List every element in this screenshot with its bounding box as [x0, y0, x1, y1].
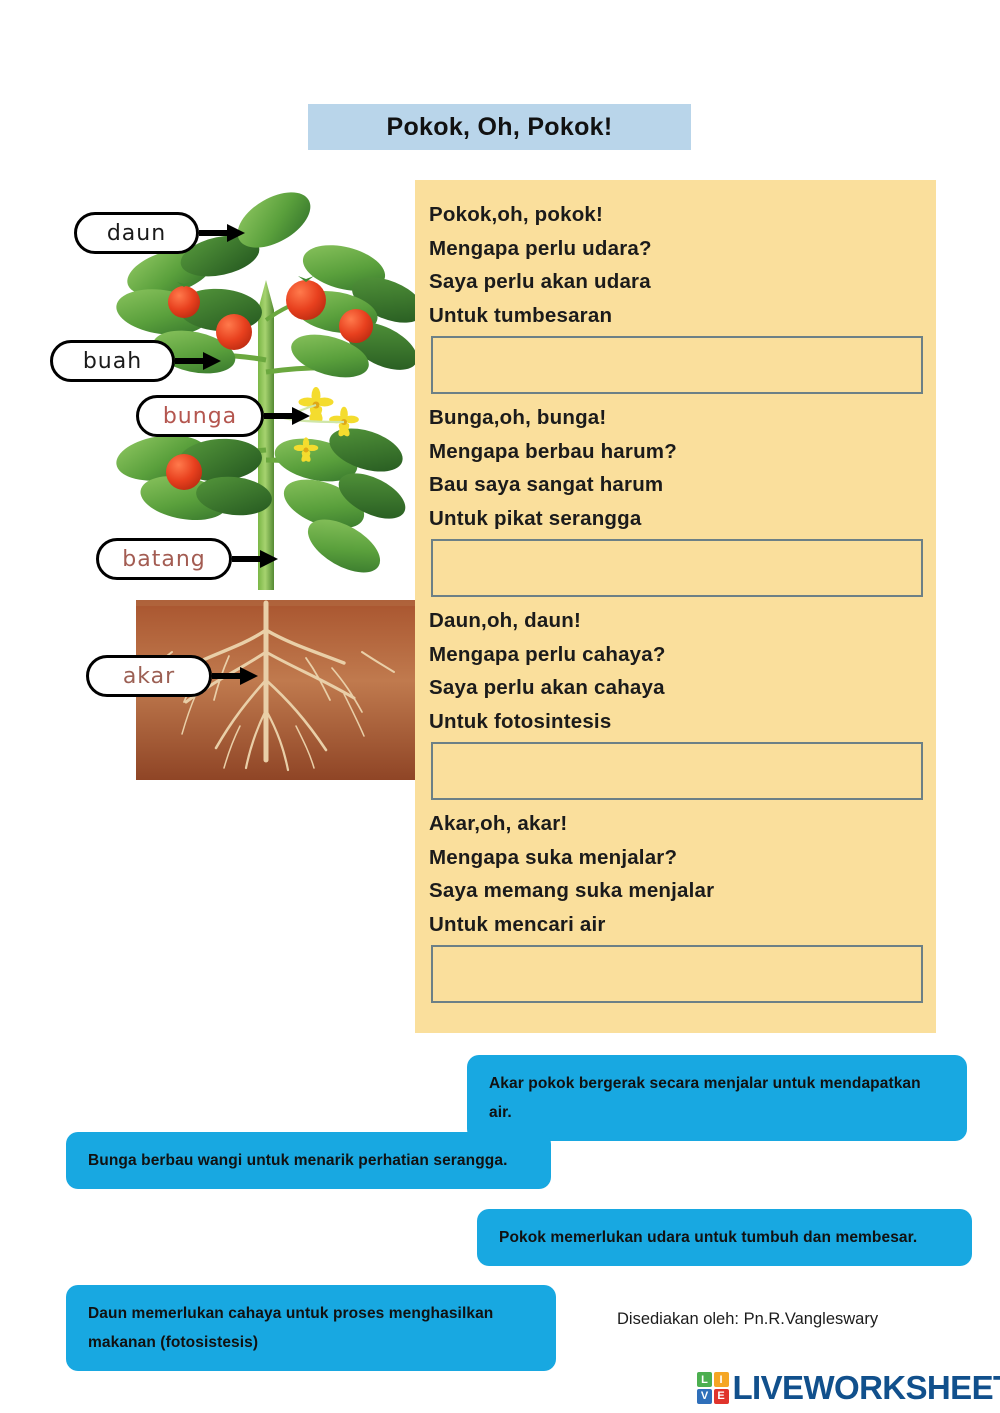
arrow-right-icon [232, 548, 278, 570]
arrow-right-icon [264, 405, 310, 427]
poem-line: Daun,oh, daun! [429, 604, 922, 638]
poem-line: Saya perlu akan udara [429, 265, 922, 299]
poem-line: Untuk fotosintesis [429, 705, 922, 739]
diagram-label-batang-text: batang [122, 547, 205, 572]
liveworksheets-logo-blocks: L I V E [697, 1372, 729, 1404]
plant-parts-diagram: daun buah bunga batang akar [44, 160, 416, 780]
answer-dropzone-akar[interactable] [431, 945, 923, 1003]
poem-line: Saya perlu akan cahaya [429, 671, 922, 705]
answer-card-daun[interactable]: Daun memerlukan cahaya untuk proses meng… [66, 1285, 556, 1371]
poem-line: Bau saya sangat harum [429, 468, 922, 502]
stanza-bunga: Bunga,oh, bunga! Mengapa berbau harum? B… [429, 401, 922, 597]
liveworksheets-wordmark: LIVEWORKSHEETS [733, 1369, 1000, 1407]
page-title: Pokok, Oh, Pokok! [387, 113, 613, 142]
diagram-label-daun-text: daun [107, 221, 166, 246]
logo-block-e: E [714, 1389, 729, 1404]
poem-line: Pokok,oh, pokok! [429, 198, 922, 232]
diagram-label-batang: batang [96, 538, 232, 580]
poem-line: Mengapa berbau harum? [429, 435, 922, 469]
page-title-banner: Pokok, Oh, Pokok! [308, 104, 691, 150]
liveworksheets-logo[interactable]: L I V E LIVEWORKSHEETS [697, 1366, 1000, 1410]
poem-line: Mengapa perlu udara? [429, 232, 922, 266]
poem-line: Akar,oh, akar! [429, 807, 922, 841]
logo-block-l: L [697, 1372, 712, 1387]
answer-dropzone-daun[interactable] [431, 742, 923, 800]
diagram-label-bunga: bunga [136, 395, 264, 437]
answer-dropzone-bunga[interactable] [431, 539, 923, 597]
answer-card-pokok[interactable]: Pokok memerlukan udara untuk tumbuh dan … [477, 1209, 972, 1266]
answer-card-akar[interactable]: Akar pokok bergerak secara menjalar untu… [467, 1055, 967, 1141]
poem-line: Untuk mencari air [429, 908, 922, 942]
poem-line: Bunga,oh, bunga! [429, 401, 922, 435]
arrow-right-icon [212, 665, 258, 687]
logo-block-i: I [714, 1372, 729, 1387]
diagram-label-daun: daun [74, 212, 199, 254]
poem-panel: Pokok,oh, pokok! Mengapa perlu udara? Sa… [415, 180, 936, 1033]
diagram-label-akar-text: akar [123, 664, 175, 689]
diagram-label-bunga-text: bunga [163, 404, 237, 429]
poem-line: Saya memang suka menjalar [429, 874, 922, 908]
poem-line: Untuk pikat serangga [429, 502, 922, 536]
poem-line: Mengapa suka menjalar? [429, 841, 922, 875]
poem-line: Mengapa perlu cahaya? [429, 638, 922, 672]
arrow-right-icon [175, 350, 221, 372]
stanza-akar: Akar,oh, akar! Mengapa suka menjalar? Sa… [429, 807, 922, 1003]
answer-card-bunga[interactable]: Bunga berbau wangi untuk menarik perhati… [66, 1132, 551, 1189]
attribution-text: Disediakan oleh: Pn.R.Vangleswary [617, 1310, 878, 1329]
diagram-label-buah-text: buah [83, 349, 142, 374]
diagram-label-akar: akar [86, 655, 212, 697]
logo-block-v: V [697, 1389, 712, 1404]
answer-dropzone-pokok[interactable] [431, 336, 923, 394]
arrow-right-icon [199, 222, 245, 244]
stanza-pokok: Pokok,oh, pokok! Mengapa perlu udara? Sa… [429, 198, 922, 394]
stanza-daun: Daun,oh, daun! Mengapa perlu cahaya? Say… [429, 604, 922, 800]
poem-line: Untuk tumbesaran [429, 299, 922, 333]
diagram-label-buah: buah [50, 340, 175, 382]
